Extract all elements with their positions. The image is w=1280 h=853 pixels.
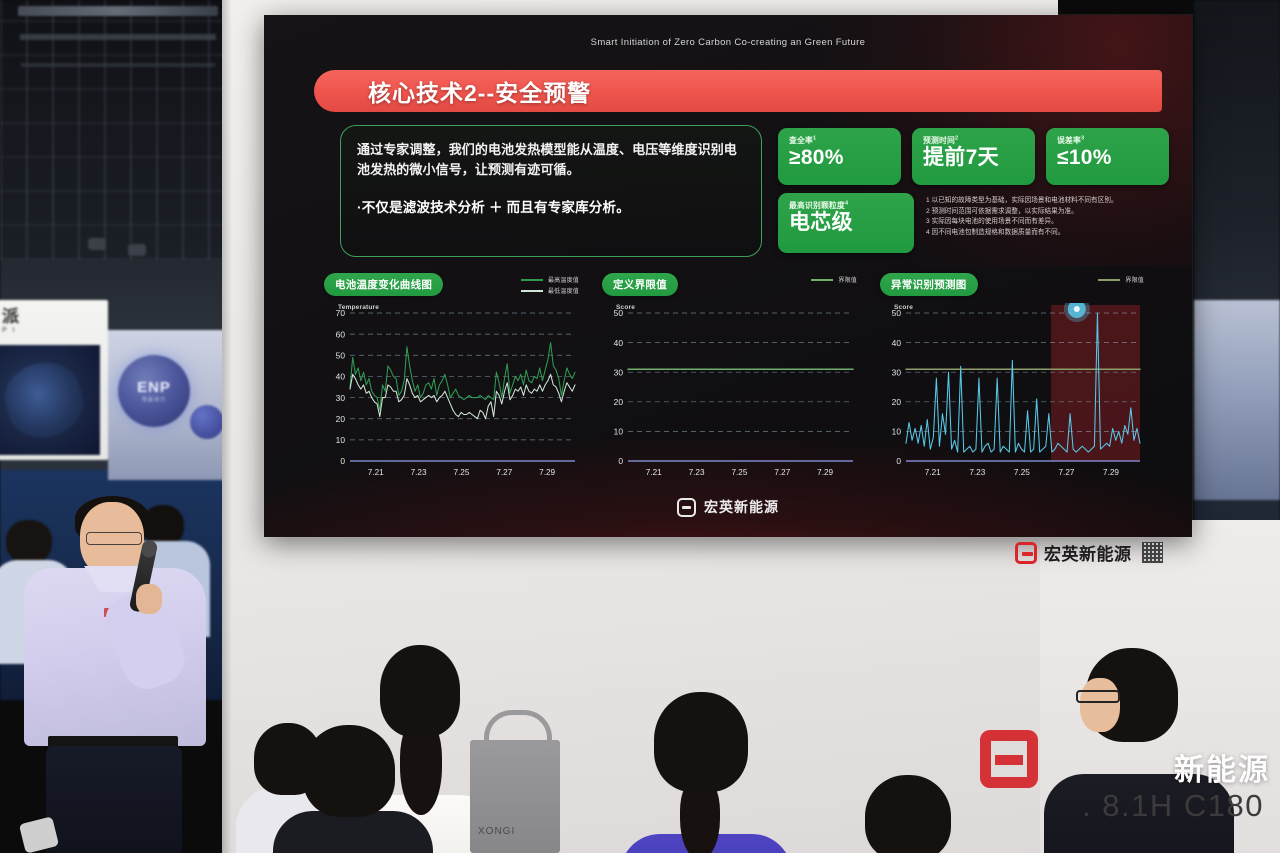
svg-text:40: 40 (892, 338, 902, 348)
wall-brand-logo: 宏英新能源 (1015, 540, 1163, 565)
svg-text:7.21: 7.21 (925, 468, 941, 477)
svg-text:40: 40 (336, 372, 346, 382)
qr-code-icon (1142, 542, 1163, 563)
legend-label: 界限值 (838, 275, 857, 284)
footnote-item: 3 实际因每块电池的使用场景不同而有差异。 (926, 217, 1184, 228)
svg-text:7.25: 7.25 (731, 468, 747, 477)
exhibition-photo-scene: 派 P I ENP 恒昌动力 Smart Initiation of Zero … (0, 0, 1280, 853)
chart-plot-area: Temperature 0102030405060707.217.237.257… (324, 303, 579, 487)
chart-threshold-definition: 定义界限值 界限值 Score 010203040507.217.237.257… (602, 273, 857, 488)
chart-legend: 界限值 (811, 275, 857, 286)
chart-canvas: 0102030405060707.217.237.257.277.29 (324, 303, 579, 487)
chart-anomaly-prediction: 异常识别预测图 界限值 Score 010203040507.217.237.2… (880, 273, 1144, 488)
chart-plot-area: Score 010203040507.217.237.257.277.29 (602, 303, 857, 487)
svg-text:50: 50 (892, 308, 902, 318)
booth-code-text: . 8.1H C180 (1082, 788, 1264, 824)
metric-label: 误差率3 (1057, 135, 1159, 146)
svg-text:7.29: 7.29 (1103, 468, 1119, 477)
enp-logo-icon: ENP 恒昌动力 (118, 355, 190, 427)
glasses-icon (86, 532, 142, 545)
svg-text:7.23: 7.23 (969, 468, 985, 477)
svg-text:50: 50 (614, 308, 624, 318)
chart-canvas: 010203040507.217.237.257.277.29 (602, 303, 857, 487)
footnote-item: 2 预测时间范围可依据需求调整，以实际结果为准。 (926, 207, 1184, 218)
legend-swatch (811, 279, 833, 281)
svg-text:10: 10 (336, 435, 346, 445)
svg-text:7.21: 7.21 (368, 468, 384, 477)
svg-text:7.23: 7.23 (689, 468, 705, 477)
metric-value: 提前7天 (923, 146, 1025, 170)
booth-display-screen (0, 345, 100, 455)
svg-text:60: 60 (336, 329, 346, 339)
legend-item: 最高温度值 (521, 275, 579, 284)
description-bullet: ·不仅是滤波技术分析 ＋ 而且有专家库分析。 (357, 196, 745, 216)
audience-member (283, 725, 413, 853)
metric-card-group: 查全率1 ≥80% 预测时间2 提前7天 误差率3 ≤10% 最高识别颗粒度4 (778, 128, 1178, 258)
wall-overlay-text: 新能源 (1174, 745, 1270, 789)
spotlight-icon (128, 244, 146, 256)
legend-label: 最低温度值 (548, 286, 579, 295)
chart-title: 电池温度变化曲线图 (324, 273, 443, 296)
spotlight-icon (88, 238, 106, 250)
svg-text:7.21: 7.21 (646, 468, 662, 477)
presenter-hand (136, 584, 162, 614)
chart-group: 电池温度变化曲线图 最高温度值 最低温度值 Temperature 010203… (324, 273, 1144, 488)
svg-text:7.27: 7.27 (496, 468, 512, 477)
svg-text:7.25: 7.25 (453, 468, 469, 477)
chart-canvas: 010203040507.217.237.257.277.29 (880, 303, 1144, 487)
svg-text:10: 10 (892, 427, 902, 437)
glasses-icon (1076, 690, 1120, 703)
legend-item: 最低温度值 (521, 286, 579, 295)
svg-text:40: 40 (614, 338, 624, 348)
slide-eyebrow: Smart Initiation of Zero Carbon Co-creat… (264, 37, 1192, 48)
legend-item: 界限值 (811, 275, 857, 284)
metric-card-prediction-horizon: 预测时间2 提前7天 (912, 128, 1035, 185)
bag-label: XONGI (478, 826, 515, 837)
footnote-item: 4 因不同电池包制造规格和数据质量而有不同。 (926, 228, 1184, 239)
svg-text:30: 30 (336, 393, 346, 403)
svg-text:50: 50 (336, 350, 346, 360)
metric-label: 查全率1 (789, 135, 891, 146)
booth-pai-label: 派 P I (2, 302, 20, 334)
svg-text:70: 70 (336, 308, 346, 318)
svg-text:20: 20 (892, 397, 902, 407)
svg-text:7.27: 7.27 (1058, 468, 1074, 477)
metric-value: 电芯级 (789, 211, 904, 235)
exhibition-hall-right (1194, 0, 1280, 560)
brand-mark-icon (677, 498, 696, 517)
chart-legend: 最高温度值 最低温度值 (521, 275, 579, 297)
footnote-list: 1 以已知的故障类型为基础，实际因场景和电池材料不同有区别。 2 预测时间范围可… (926, 196, 1184, 239)
svg-text:30: 30 (614, 367, 624, 377)
svg-text:0: 0 (340, 456, 345, 466)
footnote-item: 1 以已知的故障类型为基础，实际因场景和电池材料不同有区别。 (926, 196, 1184, 207)
legend-label: 界限值 (1125, 275, 1144, 284)
legend-label: 最高温度值 (548, 275, 579, 284)
chart-title: 定义界限值 (602, 273, 678, 296)
svg-text:20: 20 (614, 397, 624, 407)
svg-text:0: 0 (896, 456, 901, 466)
svg-text:7.29: 7.29 (817, 468, 833, 477)
tote-bag: XONGI (470, 740, 560, 853)
presenter (18, 500, 233, 853)
audience-member (632, 692, 772, 853)
metric-value: ≥80% (789, 146, 891, 170)
brand-name: 宏英新能源 (1044, 540, 1132, 565)
svg-text:7.25: 7.25 (1014, 468, 1030, 477)
booth-panel-right (1194, 300, 1280, 500)
description-paragraph: 通过专家调整，我们的电池发热模型能从温度、电压等维度识别电池发热的微小信号，让预… (357, 140, 745, 180)
svg-text:20: 20 (336, 414, 346, 424)
projected-slide: Smart Initiation of Zero Carbon Co-creat… (264, 15, 1192, 537)
metric-value: ≤10% (1057, 146, 1159, 170)
chart-plot-area: Score 010203040507.217.237.257.277.29 (880, 303, 1144, 487)
legend-item: 界限值 (1098, 275, 1144, 284)
svg-text:30: 30 (892, 367, 902, 377)
metric-card-error-rate: 误差率3 ≤10% (1046, 128, 1169, 185)
chart-legend: 界限值 (1098, 275, 1144, 286)
presenter-trousers (46, 746, 182, 853)
svg-text:7.23: 7.23 (411, 468, 427, 477)
svg-text:7.27: 7.27 (774, 468, 790, 477)
svg-text:0: 0 (618, 456, 623, 466)
slide-footer-logo: 宏英新能源 (264, 497, 1192, 517)
brand-mark-icon (1015, 542, 1037, 564)
chart-battery-temperature: 电池温度变化曲线图 最高温度值 最低温度值 Temperature 010203… (324, 273, 579, 488)
legend-swatch (521, 290, 543, 292)
page-title: 核心技术2--安全预警 (368, 74, 591, 108)
wall-brand-mark-large-icon (980, 730, 1038, 788)
legend-swatch (1098, 279, 1120, 281)
audience-member (855, 775, 965, 853)
metric-label: 最高识别颗粒度4 (789, 200, 904, 211)
chart-title: 异常识别预测图 (880, 273, 978, 296)
legend-swatch (521, 279, 543, 281)
slide-description-box: 通过专家调整，我们的电池发热模型能从温度、电压等维度识别电池发热的微小信号，让预… (340, 125, 762, 257)
svg-text:7.29: 7.29 (539, 468, 555, 477)
brand-name: 宏英新能源 (704, 497, 779, 517)
slide-title-banner: 核心技术2--安全预警 (314, 70, 1162, 112)
svg-text:10: 10 (614, 427, 624, 437)
metric-card-recall: 查全率1 ≥80% (778, 128, 901, 185)
metric-label: 预测时间2 (923, 135, 1025, 146)
metric-card-granularity: 最高识别颗粒度4 电芯级 (778, 193, 914, 253)
booth-decor-circle (190, 405, 224, 439)
